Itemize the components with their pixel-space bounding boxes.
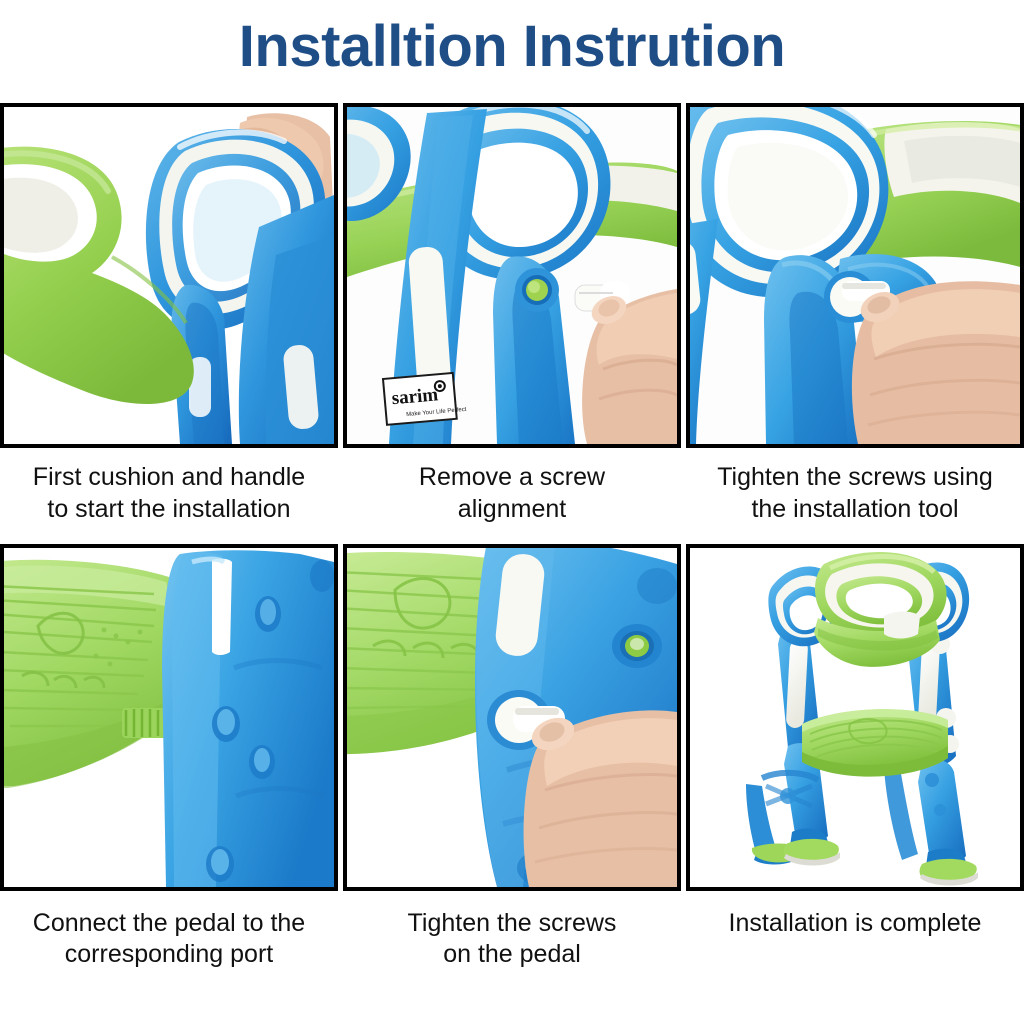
step-2-caption: Remove a screw alignment — [347, 462, 677, 526]
step-card-2: sarim Make Your Life Perfect — [343, 103, 681, 526]
step-card-6: Installation is complete — [686, 544, 1024, 972]
step-2-remove-screw-illustration: sarim Make Your Life Perfect — [347, 107, 677, 444]
step-6-photo — [686, 544, 1024, 891]
step-5-caption-line1: Tighten the screws — [408, 909, 617, 937]
step-4-caption-line1: Connect the pedal to the — [33, 909, 305, 937]
steps-row-top: First cushion and handle to start the in… — [0, 103, 1024, 526]
step-3-caption: Tighten the screws using the installatio… — [690, 462, 1020, 526]
step-1-cushion-and-handle-illustration — [4, 107, 334, 444]
step-2-caption-line2: alignment — [458, 495, 566, 523]
steps-grid: First cushion and handle to start the in… — [0, 103, 1024, 971]
seat-connector — [884, 611, 920, 638]
step-1-photo — [0, 103, 338, 448]
hand — [524, 710, 677, 887]
step-5-caption-line2: on the pedal — [443, 940, 581, 968]
step-1-caption: First cushion and handle to start the in… — [4, 462, 334, 526]
step-5-caption: Tighten the screws on the pedal — [347, 908, 677, 972]
hand — [852, 281, 1020, 444]
step-6-installation-complete-illustration — [690, 548, 1020, 887]
green-grommet — [612, 624, 662, 668]
step-6-caption: Installation is complete — [690, 908, 1020, 940]
step-3-caption-line2: the installation tool — [751, 495, 958, 523]
step-4-caption-line2: corresponding port — [65, 940, 273, 968]
steps-row-bottom: Connect the pedal to the corresponding p… — [0, 544, 1024, 972]
seat-ring — [815, 552, 947, 637]
step-1-caption-line2: to start the installation — [47, 495, 290, 523]
step-card-3: Tighten the screws using the installatio… — [686, 103, 1024, 526]
step-platform — [802, 709, 948, 776]
step-1-caption-line1: First cushion and handle — [33, 463, 305, 491]
step-card-5: Tighten the screws on the pedal — [343, 544, 681, 972]
blue-ladder-leg — [162, 550, 334, 887]
step-2-photo: sarim Make Your Life Perfect — [343, 103, 681, 448]
step-6-caption-line1: Installation is complete — [729, 909, 982, 937]
step-3-tighten-screws-tool-illustration — [690, 107, 1020, 444]
step-card-4: Connect the pedal to the corresponding p… — [0, 544, 338, 972]
hand — [582, 289, 677, 444]
step-5-photo — [343, 544, 681, 891]
step-3-caption-line1: Tighten the screws using — [717, 463, 993, 491]
step-4-caption: Connect the pedal to the corresponding p… — [4, 908, 334, 972]
step-2-caption-line1: Remove a screw — [419, 463, 605, 491]
step-5-tighten-pedal-screws-illustration — [347, 548, 677, 887]
step-card-1: First cushion and handle to start the in… — [0, 103, 338, 526]
step-4-connect-pedal-illustration — [4, 548, 334, 887]
installation-instruction-page: Installtion Instrution — [0, 0, 1024, 1024]
page-title: Installtion Instrution — [0, 18, 1024, 76]
brand-label-text: sarim — [391, 384, 439, 409]
step-3-photo — [686, 103, 1024, 448]
step-4-photo — [0, 544, 338, 891]
